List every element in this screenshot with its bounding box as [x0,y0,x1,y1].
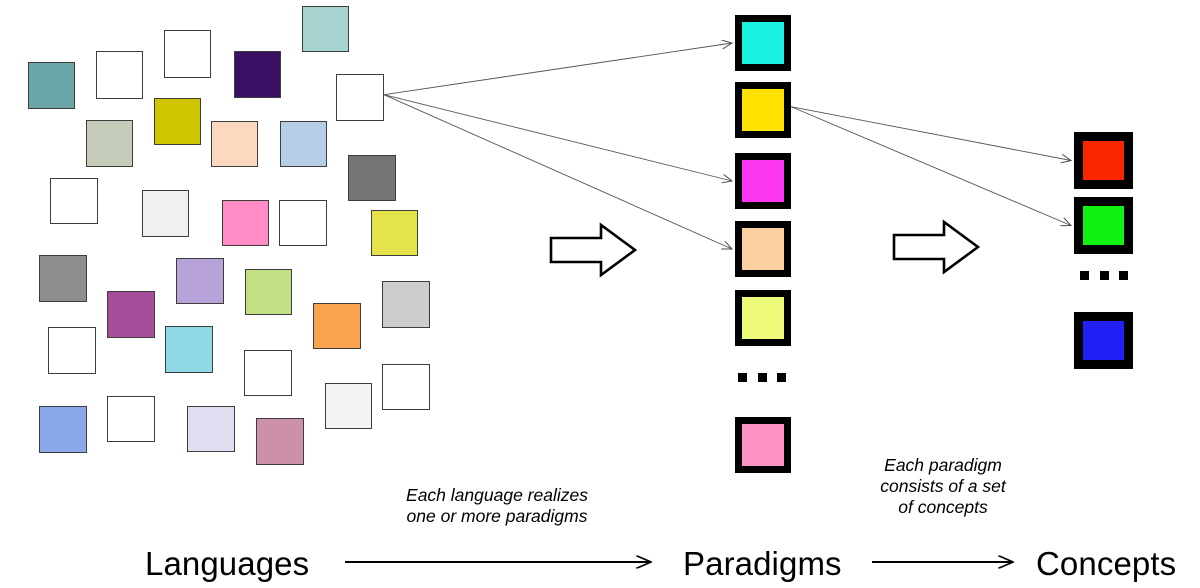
block-arrow-paradigms-to-concepts [892,219,980,280]
language-square [382,364,430,410]
paradigm-box [735,153,791,209]
language-square [280,121,327,167]
language-square [325,383,372,429]
concept-box [1074,197,1133,254]
language-square [279,200,327,246]
language-square [187,406,235,452]
paradigm-box [735,15,791,71]
paradigm-box [735,221,791,277]
language-square [244,350,292,396]
concept-box [1074,312,1133,369]
caption-each-paradigm-consists: Each paradigm consists of a set of conce… [853,455,1033,518]
paradigms-ellipsis-icon [738,372,786,382]
language-square [28,62,75,109]
language-square [313,303,361,349]
paradigm-box [735,82,791,138]
language-square [39,406,87,453]
concept-box [1074,132,1133,189]
language-square [176,258,224,304]
language-square [245,269,292,315]
language-square [302,6,349,52]
column-heading-concepts: Concepts [1036,545,1176,583]
connector-arrow [791,107,1071,226]
language-square [211,121,258,167]
block-arrow-languages-to-paradigms [549,222,637,283]
language-square [164,30,211,78]
language-square [107,291,155,338]
language-square [86,120,133,167]
connectors-paradigm-to-concepts [791,107,1071,226]
language-square [165,326,213,373]
connector-arrow [384,95,732,181]
language-square [256,418,304,465]
connectors-language-to-paradigms [384,43,732,249]
language-square [142,190,189,237]
concepts-ellipsis-icon [1080,270,1128,280]
language-square [154,98,201,145]
language-square [371,210,418,256]
language-square [336,74,384,121]
caption-each-language-realizes: Each language realizes one or more parad… [372,485,622,527]
language-square [39,255,87,302]
language-square [107,396,155,442]
language-square [96,51,143,99]
paradigm-box [735,290,791,346]
column-heading-languages: Languages [145,545,309,583]
language-square [234,51,281,98]
language-square [348,155,396,201]
language-square [222,200,269,246]
language-square [50,178,98,224]
paradigm-box [735,417,791,473]
connector-arrow [791,107,1071,161]
diagram-canvas: Each language realizes one or more parad… [0,0,1200,588]
column-heading-paradigms: Paradigms [683,545,842,583]
language-square [382,281,430,328]
language-square [48,327,96,374]
connector-arrow [384,43,732,95]
